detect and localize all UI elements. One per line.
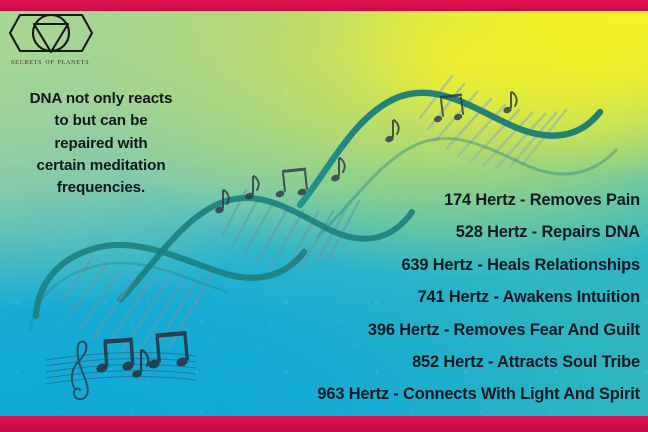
headline-line: certain meditation: [6, 155, 196, 177]
brand-name: Secrets of Planets: [11, 56, 128, 66]
headline-line: to but can be: [6, 110, 196, 132]
frequency-item: 963 Hertz - Connects With Light And Spir…: [317, 386, 640, 402]
frequency-item: 852 Hertz - Attracts Soul Tribe: [317, 354, 640, 370]
frequency-item: 174 Hertz - Removes Pain: [317, 192, 640, 208]
frequency-item: 741 Hertz - Awakens Intuition: [317, 289, 640, 305]
frequency-item: 639 Hertz - Heals Relationships: [317, 257, 640, 273]
frequency-item: 396 Hertz - Removes Fear And Guilt: [317, 322, 640, 338]
frequency-list: 174 Hertz - Removes Pain 528 Hertz - Rep…: [317, 192, 640, 403]
brand-logo[interactable]: Secrets of Planets: [8, 11, 128, 66]
headline-line: frequencies.: [6, 177, 196, 199]
bottom-accent-band: [0, 416, 648, 432]
third-eye-chakra-icon: [8, 11, 94, 55]
top-accent-band: [0, 0, 648, 11]
headline-line: DNA not only reacts: [6, 88, 196, 110]
infographic-poster: Secrets of Planets DNA not only reacts t…: [0, 0, 648, 432]
frequency-item: 528 Hertz - Repairs DNA: [317, 224, 640, 240]
headline-line: repaired with: [6, 133, 196, 155]
headline-text: DNA not only reacts to but can be repair…: [6, 88, 196, 200]
